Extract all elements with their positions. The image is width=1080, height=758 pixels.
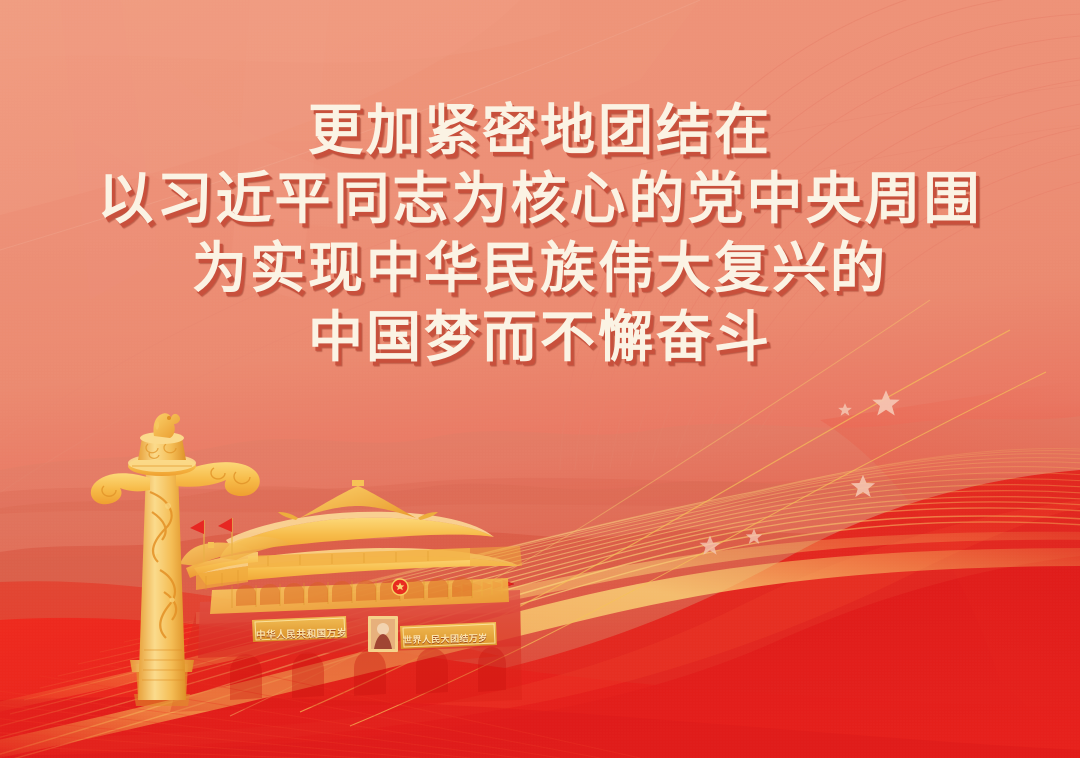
tiananmen-artwork [0,0,1080,758]
huabiao-shaft [138,470,186,700]
national-emblem [392,579,408,595]
banner-left-plaque [252,616,347,642]
chairman-portrait [368,616,398,652]
banner-right-plaque [400,622,497,649]
tiananmen-gate-group [170,480,522,712]
poster-canvas: 中华人民共和国万岁 世界人民大团结万岁 更加紧密地团结在 以习近平同志为核心的党… [0,0,1080,758]
